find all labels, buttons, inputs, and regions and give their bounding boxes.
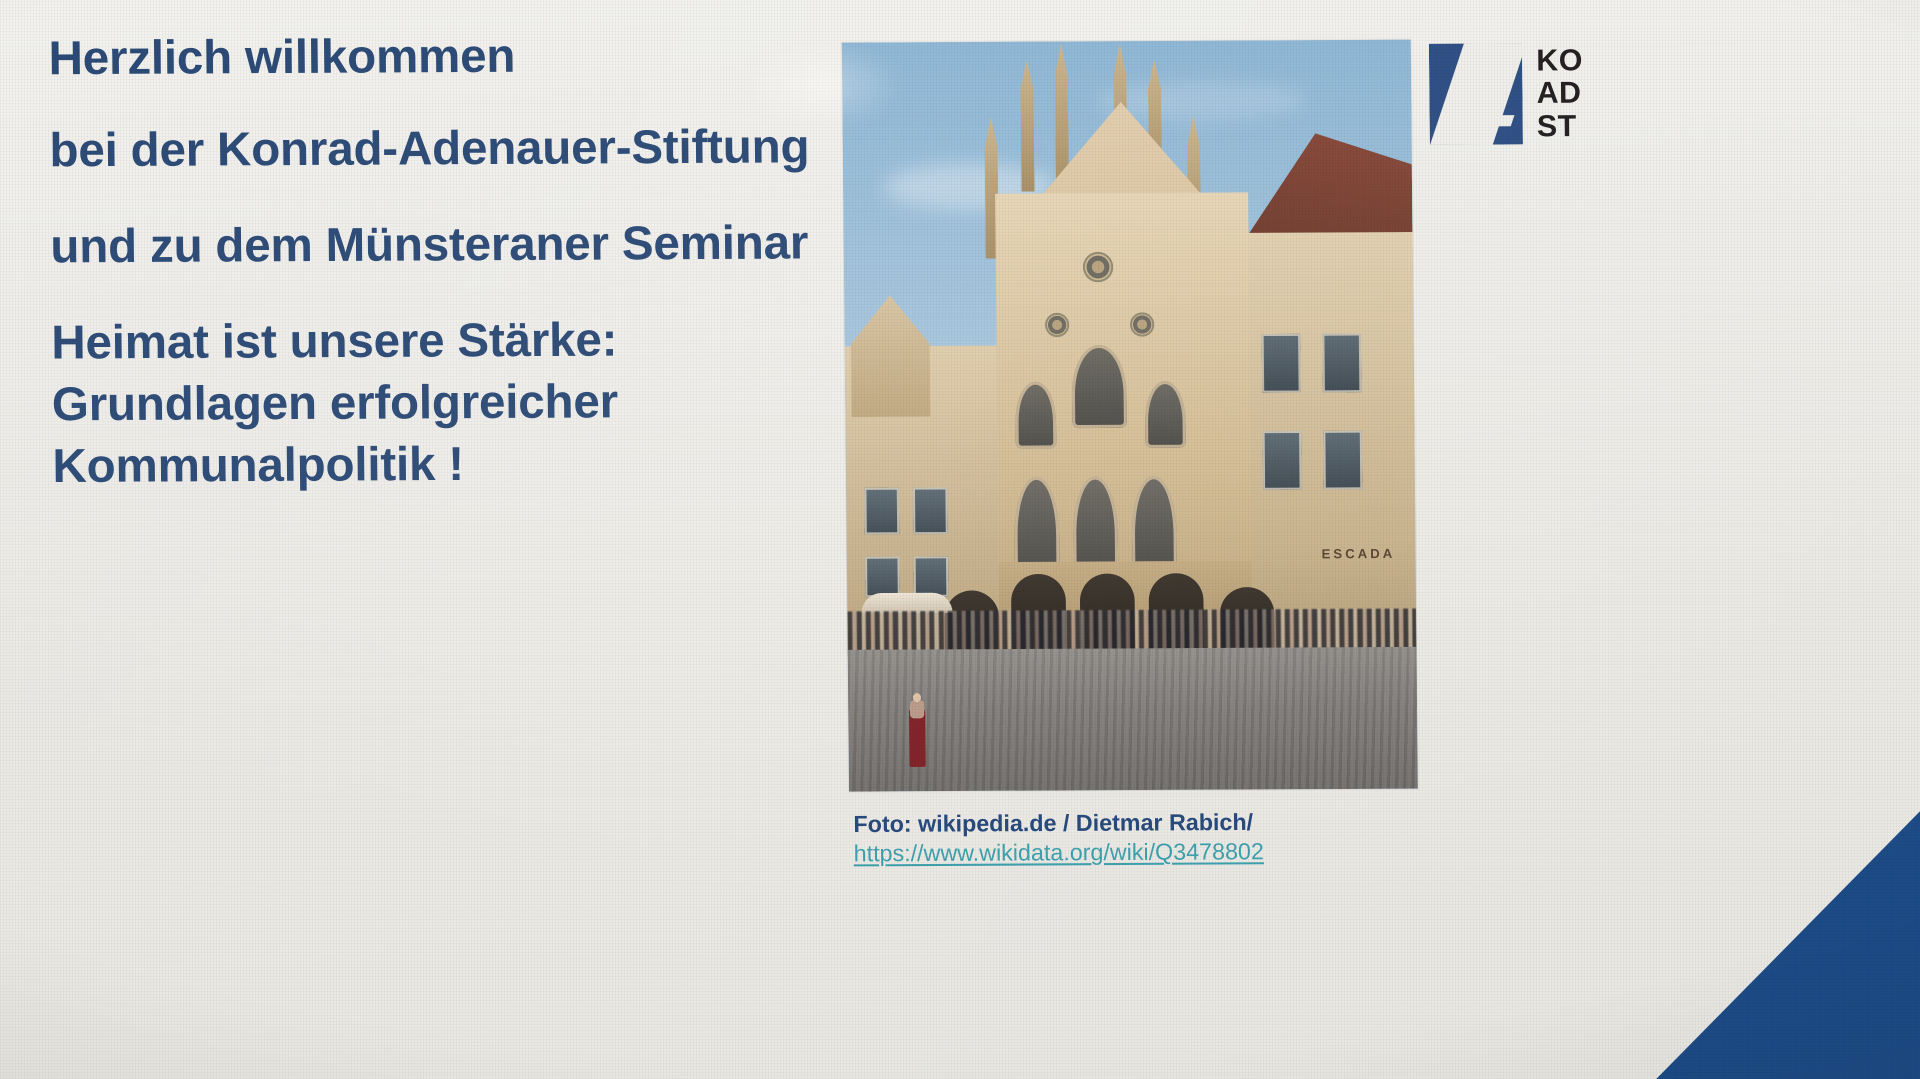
photo-source-link[interactable]: https://www.wikidata.org/wiki/Q3478802 bbox=[854, 836, 1502, 869]
window bbox=[865, 557, 900, 598]
seminar-line: und zu dem Münsteraner Seminar bbox=[50, 211, 850, 277]
presentation-slide: Herzlich willkommen bei der Konrad-Adena… bbox=[0, 0, 1920, 1079]
window bbox=[1262, 334, 1301, 393]
window bbox=[1263, 431, 1302, 490]
cobblestone-square bbox=[848, 647, 1418, 792]
window bbox=[1323, 431, 1362, 490]
window bbox=[1322, 333, 1361, 392]
topic-line: Heimat ist unsere Stärke: Grundlagen erf… bbox=[51, 307, 852, 497]
organisation-line: bei der Konrad-Adenauer-Stiftung bbox=[49, 115, 849, 181]
rose-window bbox=[1130, 312, 1155, 336]
konrad-adenauer-stiftung-logo: KO AD ST bbox=[1429, 41, 1920, 163]
escada-shop-sign: ESCADA bbox=[1321, 546, 1395, 562]
kas-logo-wordmark: KO AD ST bbox=[1536, 43, 1584, 144]
slide-text-column: Herzlich willkommen bei der Konrad-Adena… bbox=[48, 22, 852, 496]
photo-credit-text: Foto: wikipedia.de / Dietmar Rabich/ bbox=[853, 809, 1253, 837]
rose-window bbox=[1045, 313, 1070, 337]
person-walking bbox=[909, 688, 926, 767]
photo-credit: Foto: wikipedia.de / Dietmar Rabich/ htt… bbox=[853, 806, 1501, 869]
window bbox=[864, 488, 899, 535]
photographed-presentation-screen: Herzlich willkommen bei der Konrad-Adena… bbox=[0, 0, 1920, 1079]
kas-logo-mark-icon bbox=[1429, 43, 1523, 145]
window bbox=[914, 556, 949, 597]
window bbox=[913, 487, 948, 534]
rose-window bbox=[1083, 252, 1114, 283]
decorative-corner bbox=[1630, 777, 1920, 1079]
muenster-rathaus-photo: ESCADA bbox=[842, 40, 1418, 792]
welcome-line: Herzlich willkommen bbox=[48, 22, 848, 88]
navy-triangle bbox=[1640, 787, 1920, 1079]
